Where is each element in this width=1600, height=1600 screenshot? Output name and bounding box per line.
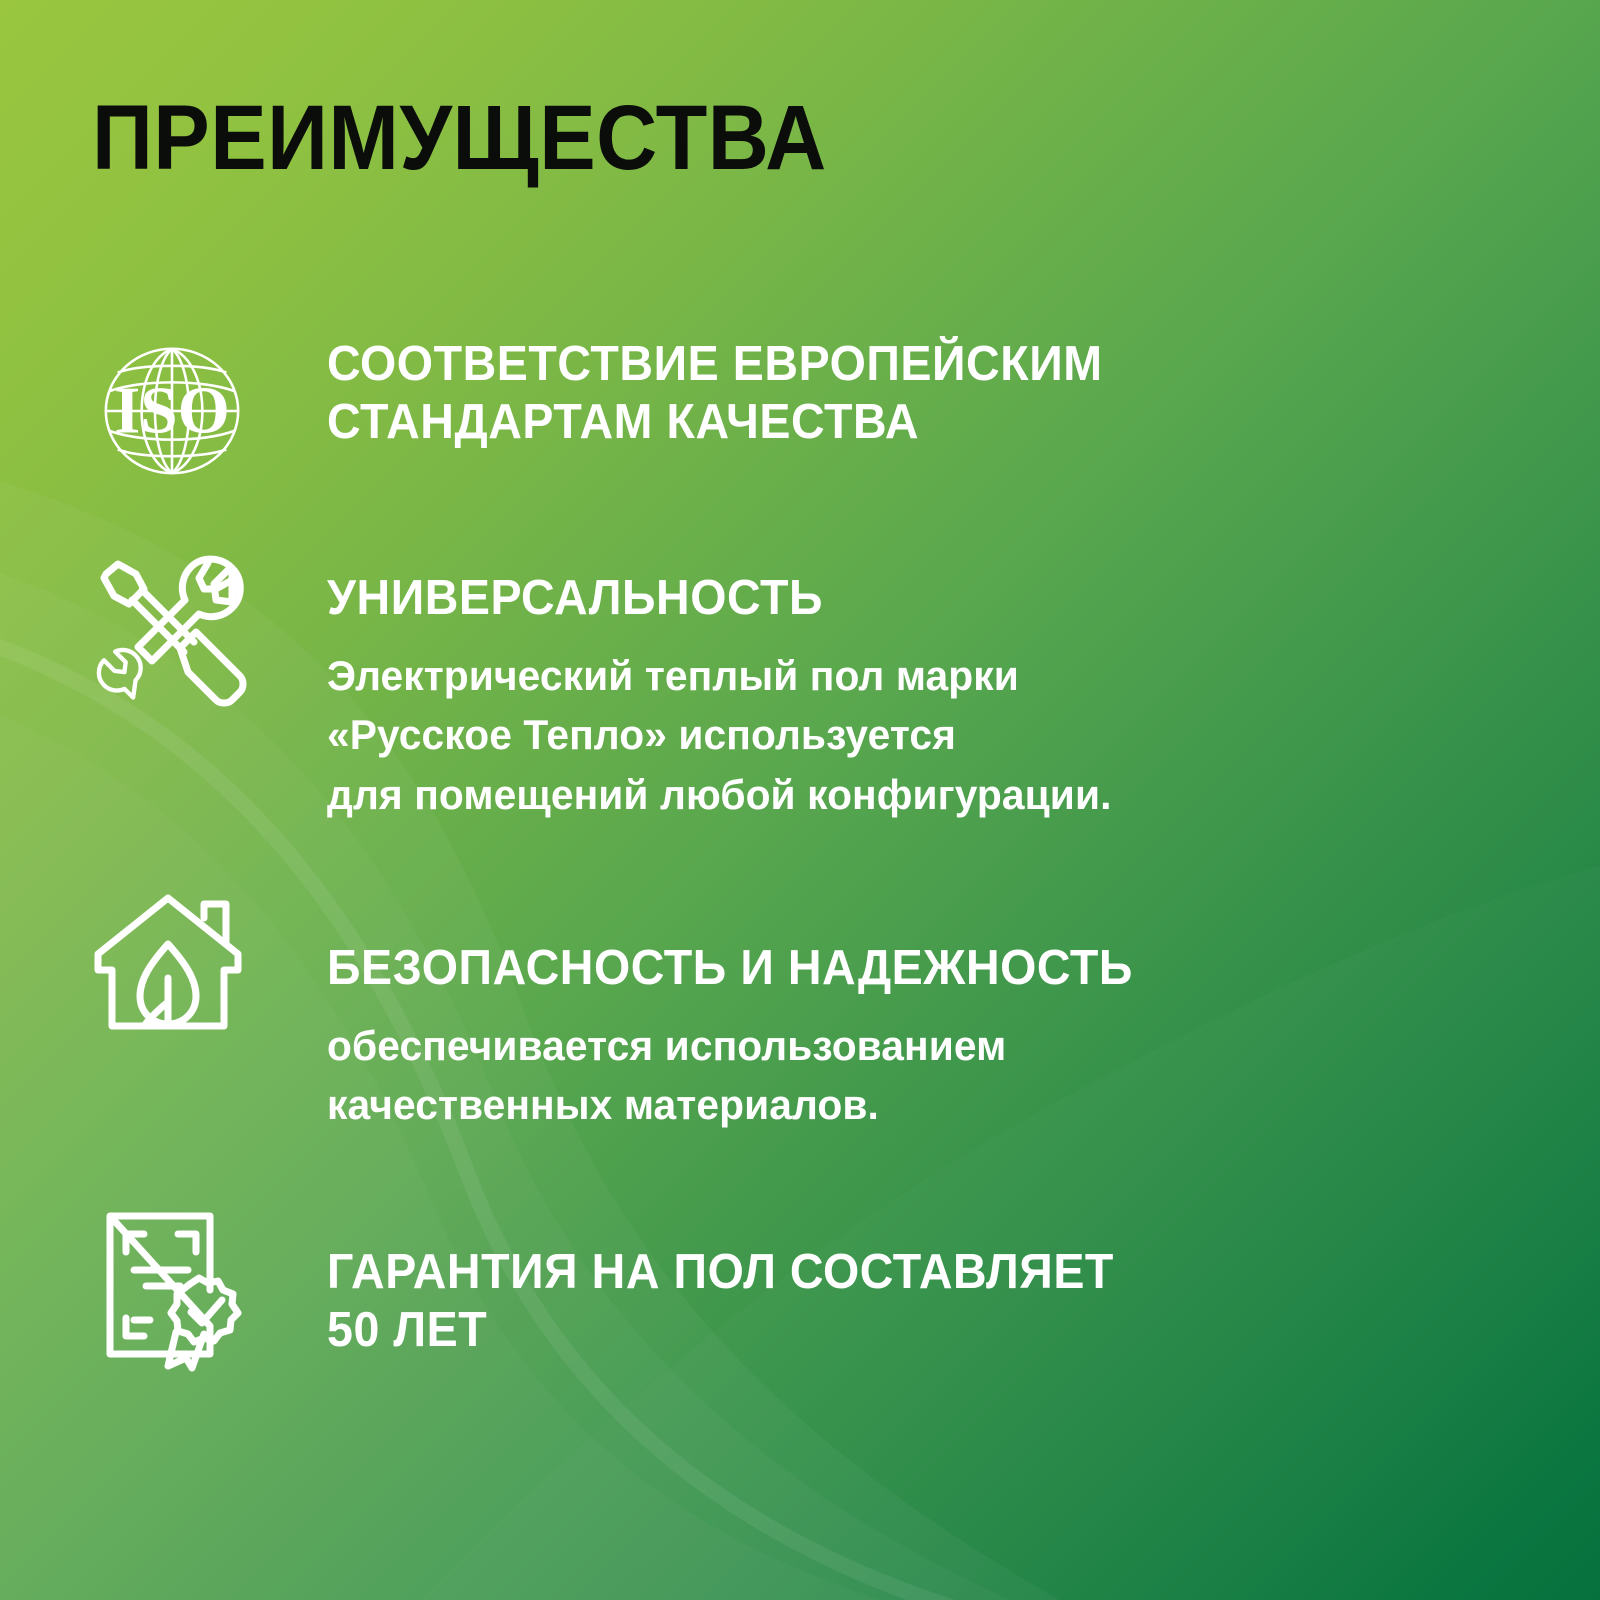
page-title: ПРЕИМУЩЕСТВА [92, 92, 827, 184]
feature-subtext: обеспечивается использованием качественн… [327, 1016, 1476, 1135]
house-leaf-icon [92, 892, 252, 1052]
feature-heading: СООТВЕТСТВИЕ ЕВРОПЕЙСКИМ СТАНДАРТАМ КАЧЕ… [327, 336, 1453, 452]
feature-row-warranty: ГАРАНТИЯ НА ПОЛ СОСТАВЛЯЕТ 50 ЛЕТ [92, 1206, 1512, 1366]
feature-subtext: Электрический теплый пол марки «Русское … [327, 646, 1476, 825]
feature-text-block: УНИВЕРСАЛЬНОСТЬ Электрический теплый пол… [252, 552, 1512, 825]
wrench-screwdriver-tools-icon [92, 552, 252, 712]
certificate-award-icon [92, 1206, 252, 1366]
feature-heading: УНИВЕРСАЛЬНОСТЬ [327, 570, 1453, 628]
feature-heading: ГАРАНТИЯ НА ПОЛ СОСТАВЛЯЕТ 50 ЛЕТ [327, 1244, 1453, 1360]
feature-row-iso: ISO СООТВЕТСТВИЕ ЕВРОПЕЙСКИМ СТАНДАРТАМ … [92, 336, 1512, 496]
iso-certificate-globe-icon: ISO [92, 336, 252, 496]
feature-row-universality: УНИВЕРСАЛЬНОСТЬ Электрический теплый пол… [92, 552, 1512, 825]
advantages-poster: ПРЕИМУЩЕСТВА [0, 0, 1600, 1600]
feature-text-block: СООТВЕТСТВИЕ ЕВРОПЕЙСКИМ СТАНДАРТАМ КАЧЕ… [252, 336, 1512, 452]
feature-row-safety: БЕЗОПАСНОСТЬ И НАДЕЖНОСТЬ обеспечивается… [92, 892, 1512, 1135]
iso-wordmark: ISO [114, 373, 230, 448]
feature-text-block: БЕЗОПАСНОСТЬ И НАДЕЖНОСТЬ обеспечивается… [252, 892, 1512, 1135]
feature-heading: БЕЗОПАСНОСТЬ И НАДЕЖНОСТЬ [327, 940, 1453, 998]
feature-text-block: ГАРАНТИЯ НА ПОЛ СОСТАВЛЯЕТ 50 ЛЕТ [252, 1206, 1512, 1360]
